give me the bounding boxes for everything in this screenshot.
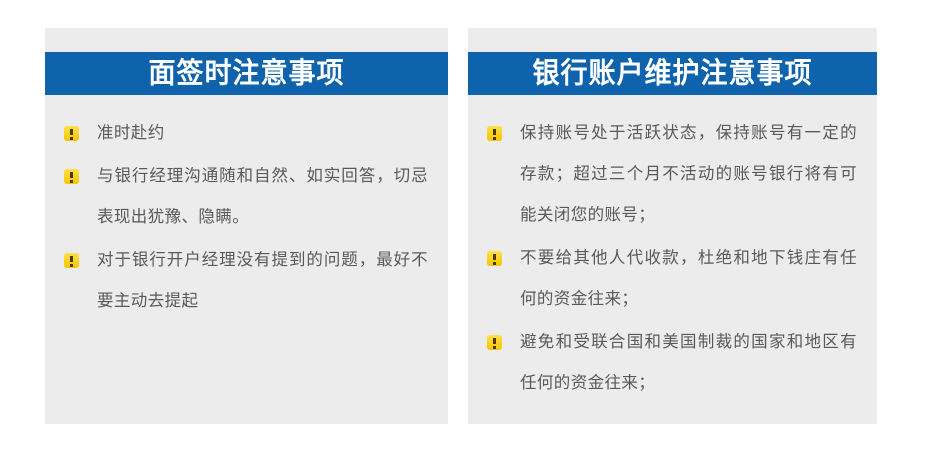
card-header-interview-notes: 面签时注意事项 xyxy=(45,52,448,95)
exclamation-icon xyxy=(487,126,502,141)
list-item: 保持账号处于活跃状态，保持账号有一定的存款；超过三个月不活动的账号银行将有可能关… xyxy=(487,113,857,236)
card-body-interview-notes: 准时赴约 与银行经理沟通随和自然、如实回答，切忌表现出犹豫、隐瞒。 对于银行开户… xyxy=(45,95,448,322)
card-header-account-maintenance-notes: 银行账户维护注意事项 xyxy=(468,52,877,95)
exclamation-icon xyxy=(64,253,79,268)
list-item-text: 避免和受联合国和美国制裁的国家和地区有任何的资金往来； xyxy=(520,333,857,392)
exclamation-icon xyxy=(487,251,502,266)
card-interview-notes: 面签时注意事项 准时赴约 与银行经理沟通随和自然、如实回答，切忌表现出犹豫、隐瞒… xyxy=(45,28,448,424)
list-item-text: 不要给其他人代收款，杜绝和地下钱庄有任何的资金往来； xyxy=(520,249,857,308)
info-cards-board: 面签时注意事项 准时赴约 与银行经理沟通随和自然、如实回答，切忌表现出犹豫、隐瞒… xyxy=(0,0,930,464)
list-item-text: 与银行经理沟通随和自然、如实回答，切忌表现出犹豫、隐瞒。 xyxy=(97,167,428,226)
card-body-account-maintenance-notes: 保持账号处于活跃状态，保持账号有一定的存款；超过三个月不活动的账号银行将有可能关… xyxy=(468,95,877,404)
card-title-interview-notes: 面签时注意事项 xyxy=(149,59,345,88)
list-item-text: 准时赴约 xyxy=(97,124,165,142)
list-item: 对于银行开户经理没有提到的问题，最好不要主动去提起 xyxy=(64,240,428,322)
exclamation-icon xyxy=(64,169,79,184)
exclamation-icon xyxy=(487,335,502,350)
list-item: 准时赴约 xyxy=(64,113,428,154)
list-item-text: 对于银行开户经理没有提到的问题，最好不要主动去提起 xyxy=(97,251,428,310)
list-item: 不要给其他人代收款，杜绝和地下钱庄有任何的资金往来； xyxy=(487,238,857,320)
list-item-text: 保持账号处于活跃状态，保持账号有一定的存款；超过三个月不活动的账号银行将有可能关… xyxy=(520,124,857,224)
bullet-list-interview-notes: 准时赴约 与银行经理沟通随和自然、如实回答，切忌表现出犹豫、隐瞒。 对于银行开户… xyxy=(64,113,428,322)
list-item: 避免和受联合国和美国制裁的国家和地区有任何的资金往来； xyxy=(487,322,857,404)
list-item: 与银行经理沟通随和自然、如实回答，切忌表现出犹豫、隐瞒。 xyxy=(64,156,428,238)
bullet-list-account-maintenance-notes: 保持账号处于活跃状态，保持账号有一定的存款；超过三个月不活动的账号银行将有可能关… xyxy=(487,113,857,404)
card-account-maintenance-notes: 银行账户维护注意事项 保持账号处于活跃状态，保持账号有一定的存款；超过三个月不活… xyxy=(468,28,877,424)
card-title-account-maintenance-notes: 银行账户维护注意事项 xyxy=(533,59,813,88)
exclamation-icon xyxy=(64,126,79,141)
